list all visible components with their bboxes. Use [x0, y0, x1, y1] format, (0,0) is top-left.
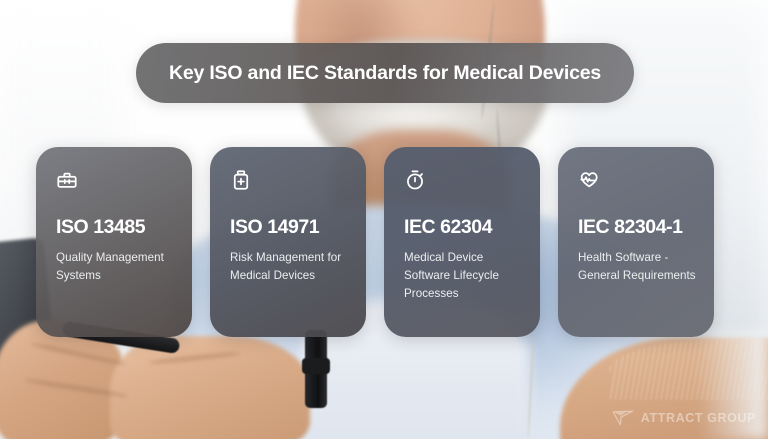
medicine-bottle-icon — [230, 169, 252, 193]
heart-pulse-icon — [578, 169, 600, 193]
brand-watermark: ATTRACT GROUP — [612, 409, 756, 427]
card-title: ISO 14971 — [230, 217, 348, 238]
photo-watch-buckle — [302, 358, 330, 374]
card-description: Health Software - General Requirements — [578, 249, 696, 285]
card-title: IEC 62304 — [404, 217, 522, 238]
card-description: Risk Management for Medical Devices — [230, 249, 348, 285]
infographic-canvas: Key ISO and IEC Standards for Medical De… — [0, 0, 768, 439]
standards-card-row: ISO 13485 Quality Management Systems ISO… — [36, 147, 732, 337]
card-title: IEC 82304-1 — [578, 217, 696, 238]
card-description: Medical Device Software Lifecycle Proces… — [404, 249, 522, 303]
standard-card-iec-62304[interactable]: IEC 62304 Medical Device Software Lifecy… — [384, 147, 540, 337]
standard-card-iso-13485[interactable]: ISO 13485 Quality Management Systems — [36, 147, 192, 337]
photo-right-hand — [110, 336, 310, 439]
triangle-logo-icon — [612, 409, 634, 427]
card-description: Quality Management Systems — [56, 249, 174, 285]
standard-card-iso-14971[interactable]: ISO 14971 Risk Management for Medical De… — [210, 147, 366, 337]
brand-name: ATTRACT GROUP — [641, 411, 756, 425]
page-title: Key ISO and IEC Standards for Medical De… — [169, 62, 601, 85]
standard-card-iec-82304-1[interactable]: IEC 82304-1 Health Software - General Re… — [558, 147, 714, 337]
card-title: ISO 13485 — [56, 217, 174, 238]
toolbox-icon — [56, 169, 78, 193]
stopwatch-icon — [404, 169, 426, 193]
page-title-pill: Key ISO and IEC Standards for Medical De… — [136, 43, 634, 103]
